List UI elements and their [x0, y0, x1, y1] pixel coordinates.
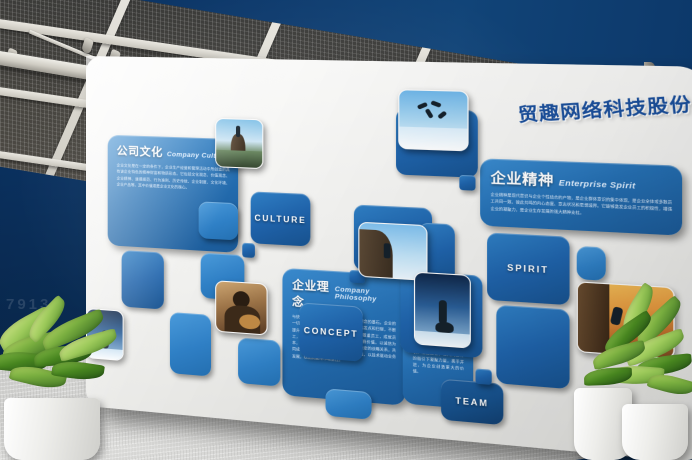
- tile-label: CULTURE: [251, 191, 311, 246]
- tile-label: TEAM: [441, 379, 503, 425]
- decor-tile: [326, 388, 372, 420]
- panel-title-cn: 公司文化: [117, 142, 163, 160]
- panel-body-text: 企业文化是在一定的条件下，企业生产经营和管理活动中所创造的具有该企业特色的精神财…: [117, 162, 230, 192]
- culture-wall-board: 公司文化 Company Culture 企业文化是在一定的条件下，企业生产经营…: [86, 56, 646, 406]
- photo-cliff-climber[interactable]: [358, 222, 427, 281]
- decor-tile: [199, 201, 238, 240]
- office-culture-wall-scene: 7913 公司文化 Company Culture 企业文化是在一定的条件下，企…: [0, 0, 692, 460]
- tile-team[interactable]: TEAM: [441, 379, 503, 425]
- panel-title-en: Enterprise Spirit: [559, 178, 636, 191]
- decor-tile: [170, 312, 211, 377]
- decor-tile: [577, 246, 606, 281]
- tile-spirit[interactable]: SPIRIT: [487, 232, 569, 305]
- panel-enterprise-spirit[interactable]: 企业精神 Enterprise Spirit 企业精神是现代意识与企业个性结合的…: [480, 158, 682, 235]
- tile-label: CONCEPT: [300, 302, 363, 361]
- photo-mountain-peak-climber[interactable]: [215, 118, 263, 169]
- photo-guitar-player[interactable]: [215, 280, 267, 335]
- photo-skydivers[interactable]: [398, 89, 468, 151]
- board-company-title: 贸趣网络科技股份: [516, 88, 692, 127]
- panel-header: 企业精神 Enterprise Spirit: [491, 166, 673, 194]
- tile-concept[interactable]: CONCEPT: [300, 302, 363, 361]
- tile-culture[interactable]: CULTURE: [251, 191, 311, 246]
- panel-body-text: 企业精神是现代意识与企业个性结合的产物，是企业群体意识的集中体现，是企业全体或多…: [491, 191, 673, 220]
- decor-tile: [238, 338, 280, 387]
- panel-header: 公司文化 Company Culture: [117, 142, 230, 163]
- photo-summit-hiker[interactable]: [414, 272, 471, 349]
- decor-tile: [496, 305, 569, 389]
- planter-right-front: [622, 404, 688, 460]
- planter-left: [4, 398, 100, 460]
- decor-tile: [122, 250, 164, 309]
- connector: [475, 368, 491, 384]
- tile-label: SPIRIT: [487, 232, 569, 305]
- connector: [459, 175, 475, 191]
- panel-title-cn: 企业精神: [491, 166, 554, 189]
- panel-title-en: Company Philosophy: [335, 286, 396, 305]
- connector: [242, 243, 255, 258]
